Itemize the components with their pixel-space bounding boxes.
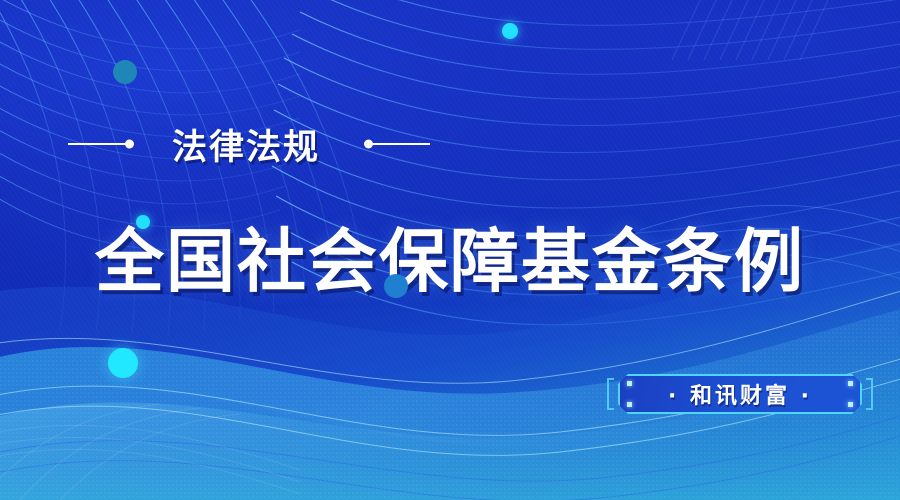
decorative-rule-right [368,143,430,145]
brand-badge[interactable]: · 和讯财富 · [618,374,862,414]
banner-root: 法律法规 全国社会保障基金条例 · 和讯财富 · [0,0,900,500]
cyan-circle-lower-left-icon [108,348,138,378]
page-title: 全国社会保障基金条例 [0,228,900,297]
teal-circle-upper-left-icon [113,60,137,84]
eyebrow-row: 法律法规 [0,112,520,176]
blue-circle-title-overlay-icon [384,274,408,298]
rule-knob-right-icon [364,140,373,149]
eyebrow-label: 法律法规 [172,119,320,170]
rule-knob-left-icon [125,140,134,149]
decorative-rule-left [68,143,130,145]
cyan-circle-top-icon [502,23,518,39]
badge-content: · 和讯财富 · [618,374,862,414]
badge-label: · 和讯财富 · [668,378,812,410]
